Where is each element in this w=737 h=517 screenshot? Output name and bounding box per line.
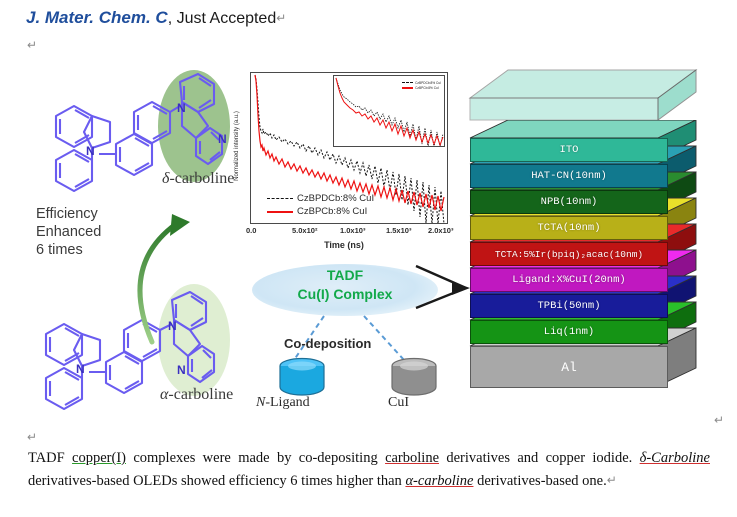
paragraph-mark-icon: ↵	[714, 413, 724, 427]
x-tick-label: 1.5x10³	[386, 226, 411, 235]
caption-segment: derivatives and copper iodide.	[439, 450, 640, 466]
oled-device-stack: ITO HAT-CN(10nm) NPB(10nm) TCTA(10nm) TC…	[462, 64, 710, 414]
legend-swatch-dashed-icon	[267, 198, 293, 199]
legend-swatch-solid-icon	[402, 87, 413, 89]
journal-name: J. Mater. Chem. C	[26, 8, 168, 27]
paragraph-mark-icon: ↵	[27, 430, 37, 444]
efficiency-note: Efficiency Enhanced 6 times	[36, 205, 101, 259]
stack-layer-npb[interactable]: NPB(10nm)	[470, 190, 668, 214]
paragraph-mark-icon: ↵	[276, 11, 286, 25]
codeposition-label: Co-deposition	[284, 336, 371, 351]
svg-text:N: N	[177, 363, 186, 377]
efficiency-arrow-icon	[114, 190, 234, 350]
stack-layer-al[interactable]: Al	[470, 346, 668, 388]
title-separator: ,	[168, 10, 177, 27]
figure-caption: TADF copper(I) complexes were made by co…	[28, 447, 710, 492]
x-tick-label: 5.0x10²	[292, 226, 317, 235]
stack-layer-ito[interactable]: ITO	[470, 138, 668, 162]
page-title: J. Mater. Chem. C, Just Accepted↵	[26, 8, 286, 28]
stack-layer-tpbi[interactable]: TPBi(50nm)	[470, 294, 668, 318]
svg-text:N: N	[76, 362, 85, 376]
caption-segment: derivatives-based one.	[473, 473, 606, 489]
legend-label: CzBPCb:8% CuI	[297, 206, 367, 217]
stack-layer-hatcn[interactable]: HAT-CN(10nm)	[470, 164, 668, 188]
svg-text:N: N	[177, 101, 186, 115]
legend-item: CzBPCb:8% CuI	[267, 205, 374, 218]
inset-legend-label: CzBPDCb:8% CuI	[415, 81, 441, 85]
caption-segment: complexes were made by co-depositing	[126, 450, 385, 466]
legend-swatch-solid-icon	[267, 211, 293, 213]
inset-legend-label: CzBPCb:8% CuI	[415, 86, 439, 90]
n-ligand-label: N-Ligand	[256, 395, 310, 411]
plot-inset: CzBPDCb:8% CuI CzBPCb:8% CuI	[333, 75, 445, 147]
stack-layer-tcta[interactable]: TCTA(10nm)	[470, 216, 668, 240]
alpha-carboline-label: α-carboline	[160, 386, 233, 404]
legend-item: CzBPDCb:8% CuI	[267, 192, 374, 205]
delta-carboline-label: δ-carboline	[162, 170, 234, 188]
legend-label: CzBPDCb:8% CuI	[297, 193, 374, 204]
svg-text:N: N	[86, 144, 95, 158]
plot-x-axis-label: Time (ns)	[236, 240, 452, 250]
stack-layer-liq[interactable]: Liq(1nm)	[470, 320, 668, 344]
caption-segment: carboline	[385, 450, 439, 466]
plot-legend: CzBPDCb:8% CuI CzBPCb:8% CuI	[267, 192, 374, 218]
inset-legend-item: CzBPCb:8% CuI	[402, 85, 441, 90]
caption-segment: α-carboline	[405, 473, 473, 489]
paragraph-mark-icon: ↵	[607, 473, 617, 487]
paragraph-mark-icon: ↵	[27, 38, 37, 52]
plot-y-axis-label: Normalized intensity (a.u.)	[234, 111, 240, 181]
stack-layer-emissive-tcta-ir[interactable]: TCTA:5%Ir(bpiq)₂acac(10nm)	[470, 242, 668, 266]
x-tick-label: 2.0x10³	[428, 226, 453, 235]
caption-segment: derivatives-based OLEDs showed efficienc…	[28, 473, 405, 489]
caption-segment: TADF	[28, 450, 72, 466]
accepted-status: Just Accepted	[177, 10, 277, 27]
x-tick-label: 0.0	[246, 226, 256, 235]
graphical-abstract-figure: N N N δ-carboline	[14, 62, 714, 417]
svg-text:N: N	[218, 132, 227, 146]
x-tick-label: 1.0x10³	[340, 226, 365, 235]
cloud-to-layer-arrow-icon	[414, 258, 474, 316]
transient-decay-plot: Normalized intensity (a.u.) CzBPDCb:8% C…	[236, 68, 452, 256]
tadf-complex-label: TADF Cu(I) Complex	[252, 266, 438, 304]
plot-frame: CzBPDCb:8% CuI CzBPCb:8% CuI CzBPDCb:8% …	[250, 72, 448, 224]
caption-segment: δ-Carboline	[640, 450, 710, 466]
cui-label: CuI	[388, 395, 409, 411]
plot-inset-legend: CzBPDCb:8% CuI CzBPCb:8% CuI	[402, 80, 441, 90]
legend-swatch-dashed-icon	[402, 82, 413, 83]
stack-layer-ligand-cui[interactable]: Ligand:X%CuI(20nm)	[470, 268, 668, 292]
caption-segment: copper(I)	[72, 450, 126, 466]
